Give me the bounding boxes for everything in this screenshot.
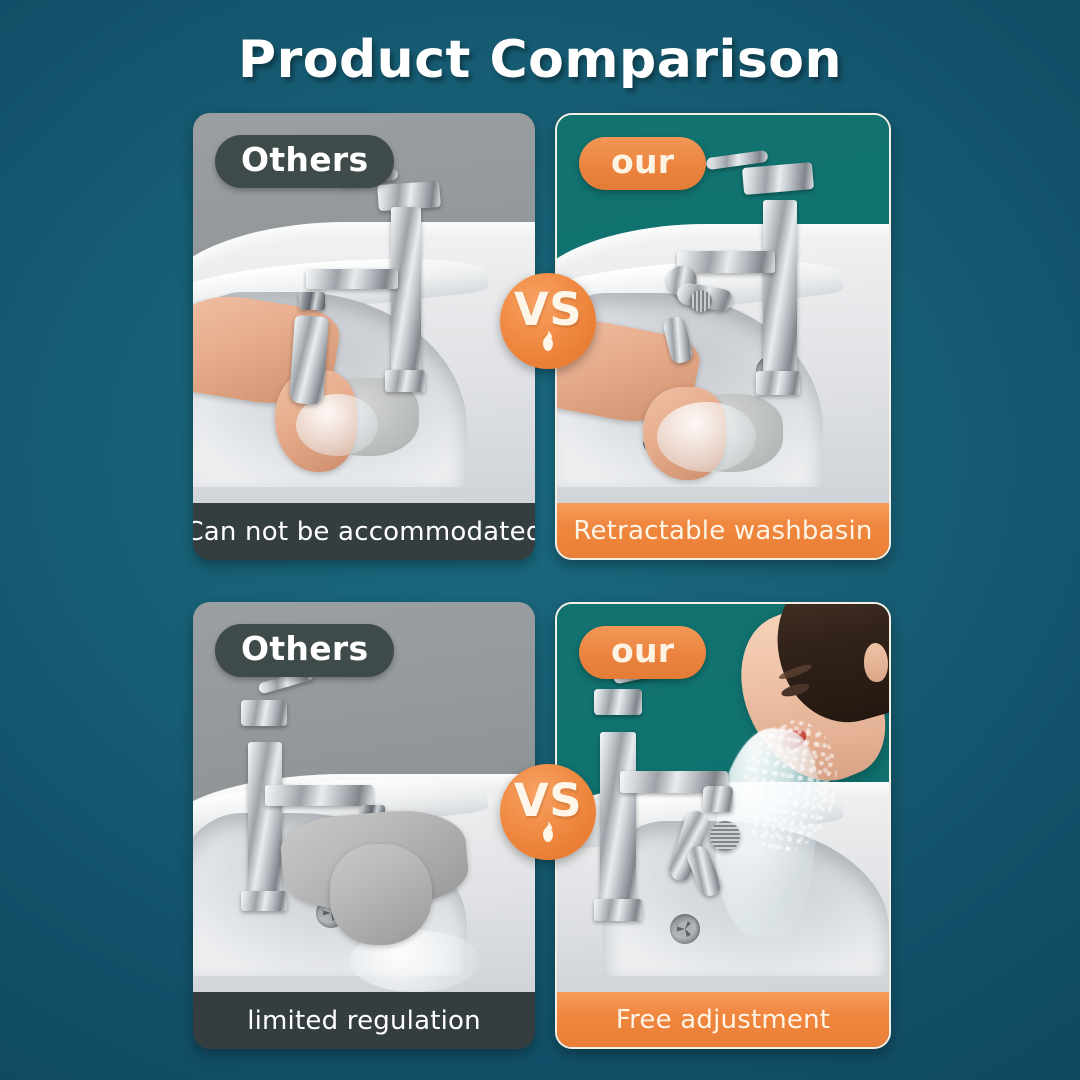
- caption-others-row2: limited regulation: [193, 992, 535, 1049]
- panel-others-row1[interactable]: Others Can not be accommodated: [193, 113, 535, 560]
- spout-nozzle: [289, 315, 329, 405]
- vs-badge-row1: VS: [500, 273, 596, 369]
- faucet-base: [594, 899, 642, 921]
- hand-gripping-spout: [330, 844, 433, 945]
- swivel-joint: [703, 786, 733, 812]
- badge-ours: our: [579, 137, 706, 190]
- faucet-base: [385, 370, 425, 392]
- nozzle-tip: [710, 821, 740, 851]
- faucet-body: [391, 207, 421, 379]
- flame-icon: [538, 329, 558, 353]
- faucet-spout-arm: [265, 785, 373, 806]
- caption-others-row1: Can not be accommodated: [193, 503, 535, 560]
- knurled-ring: [690, 290, 712, 312]
- faucet-body: [600, 732, 636, 907]
- faucet-base: [756, 371, 800, 395]
- faucet-body: [763, 200, 797, 378]
- flame-icon: [538, 820, 558, 844]
- suds: [657, 402, 757, 472]
- comparison-grid: Others Can not be accommodated: [193, 113, 891, 1049]
- faucet-body: [248, 742, 282, 898]
- caption-ours-row1: Retractable washbasin: [557, 503, 889, 558]
- faucet-base: [241, 891, 287, 911]
- page-title: Product Comparison: [0, 30, 1080, 90]
- caption-ours-row2: Free adjustment: [557, 992, 889, 1047]
- badge-others: Others: [215, 624, 394, 677]
- faucet-spout-arm: [306, 269, 398, 289]
- panel-others-row2[interactable]: Others limited regulation: [193, 602, 535, 1049]
- panel-ours-row1[interactable]: our Retractable washbasin: [555, 113, 891, 560]
- faucet-head: [742, 162, 814, 195]
- vs-label: VS: [514, 780, 582, 821]
- panel-ours-row2[interactable]: our Free adjustment: [555, 602, 891, 1049]
- badge-others: Others: [215, 135, 394, 188]
- faucet-head: [241, 700, 287, 726]
- vs-label: VS: [514, 289, 582, 330]
- vs-badge-row2: VS: [500, 764, 596, 860]
- badge-ours: our: [579, 626, 706, 679]
- spout-nut: [299, 292, 325, 310]
- faucet-head: [594, 689, 642, 715]
